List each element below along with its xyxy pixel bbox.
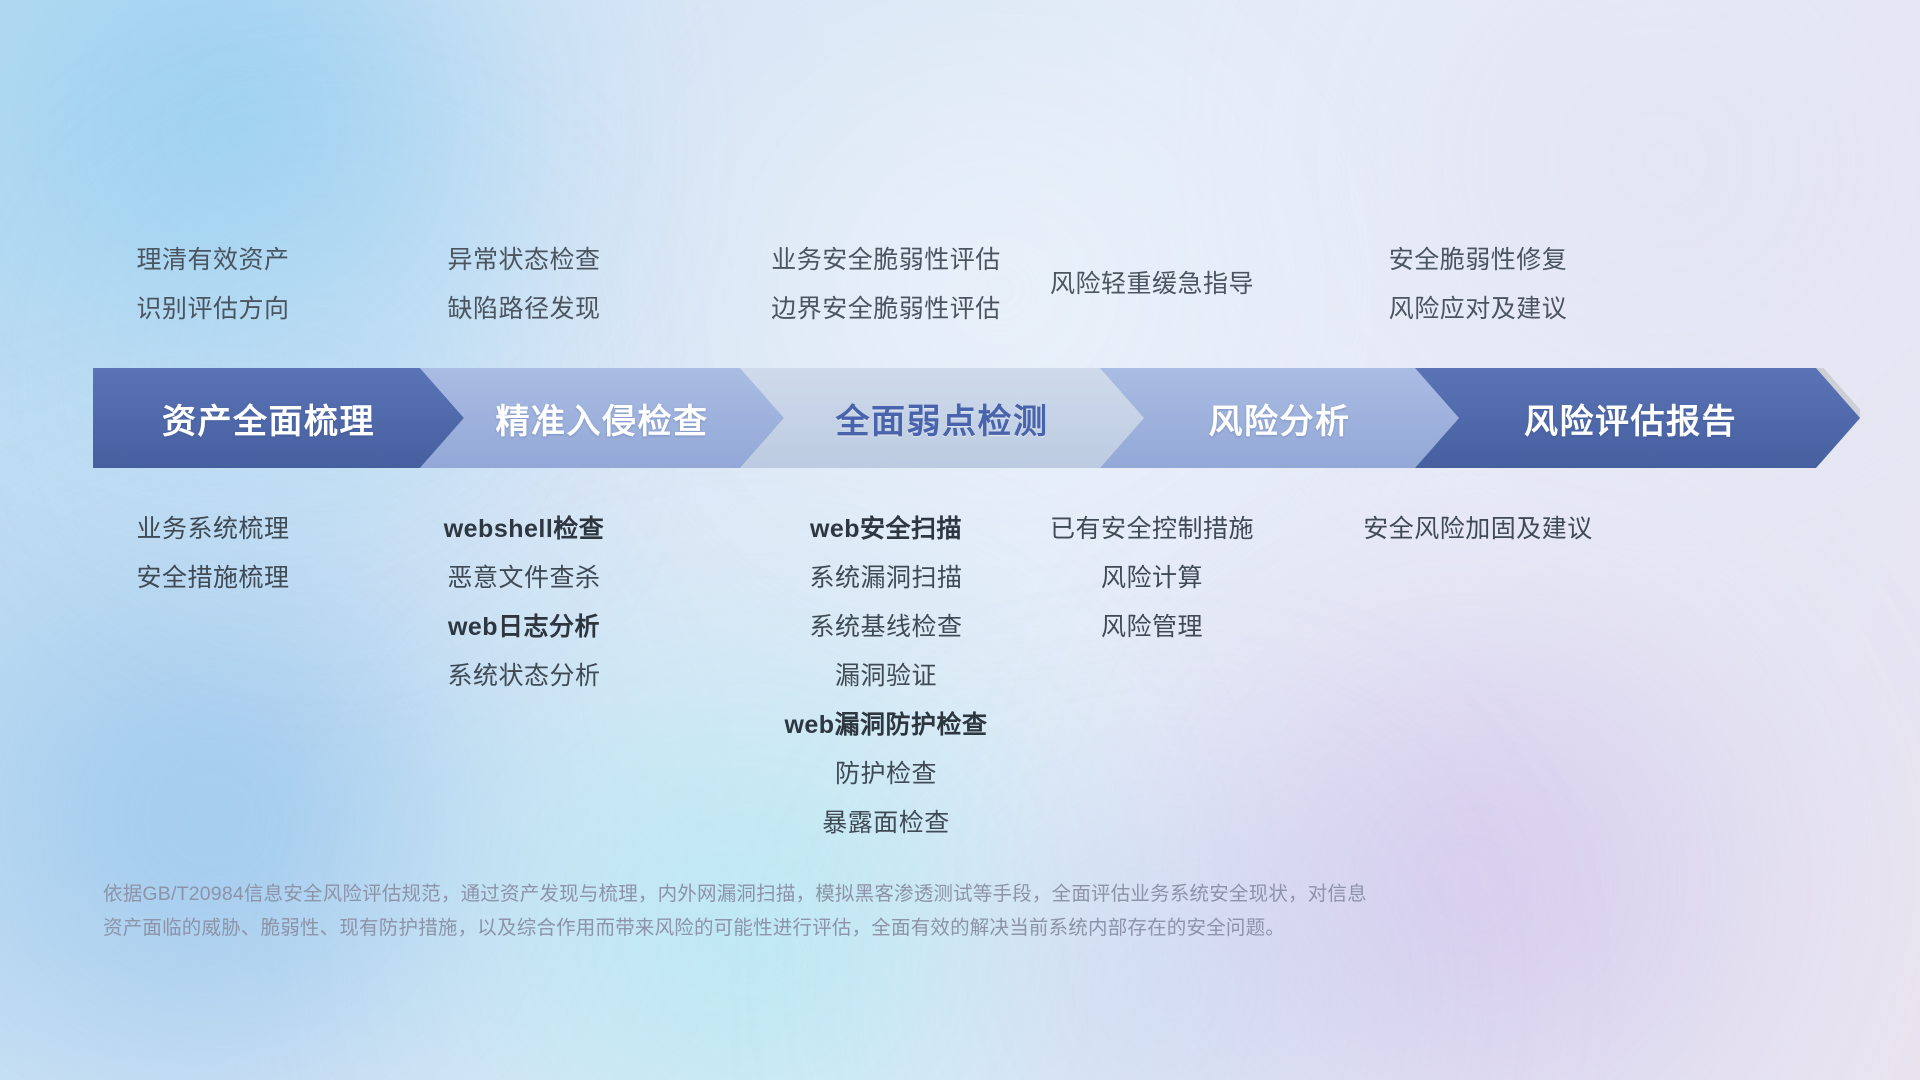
items-assessment-report: 安全风险加固及建议 [1178, 505, 1778, 554]
chevron-label-asset-inventory: 资产全面梳理 [162, 394, 375, 443]
top-note: 风险应对及建议 [1178, 285, 1778, 334]
chevron-stage-weakness-detection[interactable]: 全面弱点检测 [740, 368, 1144, 468]
list-item: web漏洞防护检查 [586, 701, 1186, 750]
footer-line-1: 依据GB/T20984信息安全风险评估规范，通过资产发现与梳理，内外网漏洞扫描，… [103, 877, 1613, 911]
list-item: 漏洞验证 [586, 652, 1186, 701]
chevron-label-intrusion-check: 精准入侵检查 [496, 394, 709, 443]
list-item: 风险计算 [852, 554, 1452, 603]
list-item: 风险管理 [852, 603, 1452, 652]
chevron-label-risk-analysis: 风险分析 [1209, 394, 1351, 443]
chevron-label-assessment-report: 风险评估报告 [1524, 394, 1737, 443]
top-notes-row: 理清有效资产识别评估方向异常状态检查缺陷路径发现业务安全脆弱性评估边界安全脆弱性… [0, 236, 1920, 336]
chevron-stage-asset-inventory[interactable]: 资产全面梳理 [93, 368, 464, 468]
chevron-stage-risk-analysis[interactable]: 风险分析 [1100, 368, 1459, 468]
top-notes-assessment-report: 安全脆弱性修复风险应对及建议 [1178, 236, 1778, 334]
list-item: 防护检查 [586, 750, 1186, 799]
process-diagram: 理清有效资产识别评估方向异常状态检查缺陷路径发现业务安全脆弱性评估边界安全脆弱性… [0, 0, 1920, 1080]
chevron-stage-assessment-report[interactable]: 风险评估报告 [1415, 368, 1860, 468]
top-note: 安全脆弱性修复 [1178, 236, 1778, 285]
chevron-stage-intrusion-check[interactable]: 精准入侵检查 [420, 368, 784, 468]
list-item: 暴露面检查 [586, 799, 1186, 848]
list-item: 安全风险加固及建议 [1178, 505, 1778, 554]
chevron-banner: 资产全面梳理精准入侵检查全面弱点检测风险分析风险评估报告 [0, 368, 1920, 468]
footer-description: 依据GB/T20984信息安全风险评估规范，通过资产发现与梳理，内外网漏洞扫描，… [103, 877, 1613, 945]
footer-line-2: 资产面临的威胁、脆弱性、现有防护措施，以及综合作用而带来风险的可能性进行评估，全… [103, 911, 1613, 945]
chevron-label-weakness-detection: 全面弱点检测 [836, 394, 1049, 443]
